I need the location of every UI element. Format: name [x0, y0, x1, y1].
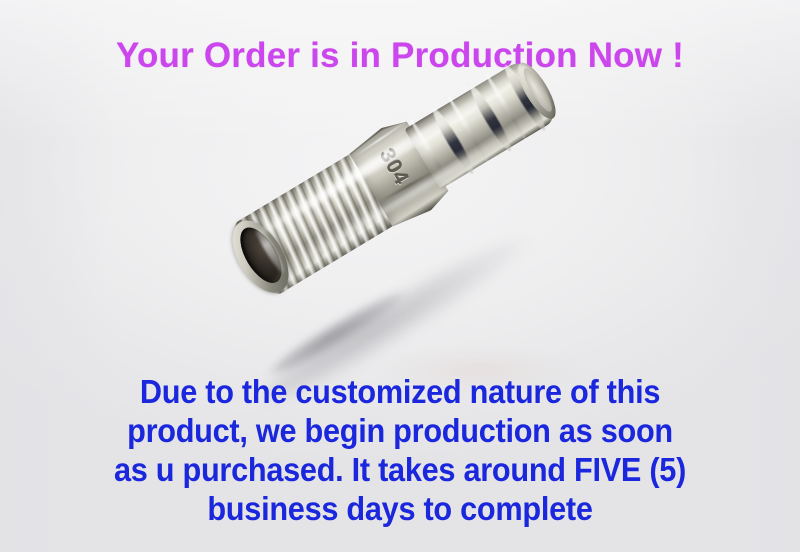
- notice-line: business days to complete: [28, 489, 772, 528]
- hose-barb-fitting: 304: [228, 50, 560, 302]
- specular-highlight-bottom: [284, 117, 537, 273]
- product-contact-shadow: [267, 286, 406, 381]
- bore-opening: [232, 221, 290, 290]
- specular-highlight-top: [248, 70, 526, 243]
- notice-line: as u purchased. It takes around FIVE (5): [28, 450, 772, 489]
- hex-upper-edge: [353, 122, 406, 158]
- hex-lower-edge: [380, 170, 436, 203]
- production-notice: Due to the customized nature of this pro…: [0, 372, 800, 528]
- hex-top-face: [347, 117, 421, 180]
- promo-banner: Your Order is in Production Now ! 304: [0, 0, 800, 552]
- barb-step-1: [409, 118, 453, 187]
- material-grade-stamp: 304: [374, 145, 413, 190]
- hex-wrench-flats: [346, 115, 452, 231]
- bore-rim-highlight: [251, 223, 288, 276]
- notice-line: product, we begin production as soon: [28, 411, 772, 450]
- barbed-hose-section: [405, 59, 558, 189]
- notice-line: Due to the customized nature of this: [28, 372, 772, 411]
- barb-step-3: [484, 73, 528, 142]
- bore-rim: [221, 211, 300, 302]
- barb-step-2: [447, 96, 491, 165]
- barb-ridge-2: [466, 83, 515, 154]
- barb-ridge-1: [429, 106, 478, 177]
- threaded-nipple-section: [231, 148, 403, 297]
- page-title: Your Order is in Production Now !: [0, 36, 800, 76]
